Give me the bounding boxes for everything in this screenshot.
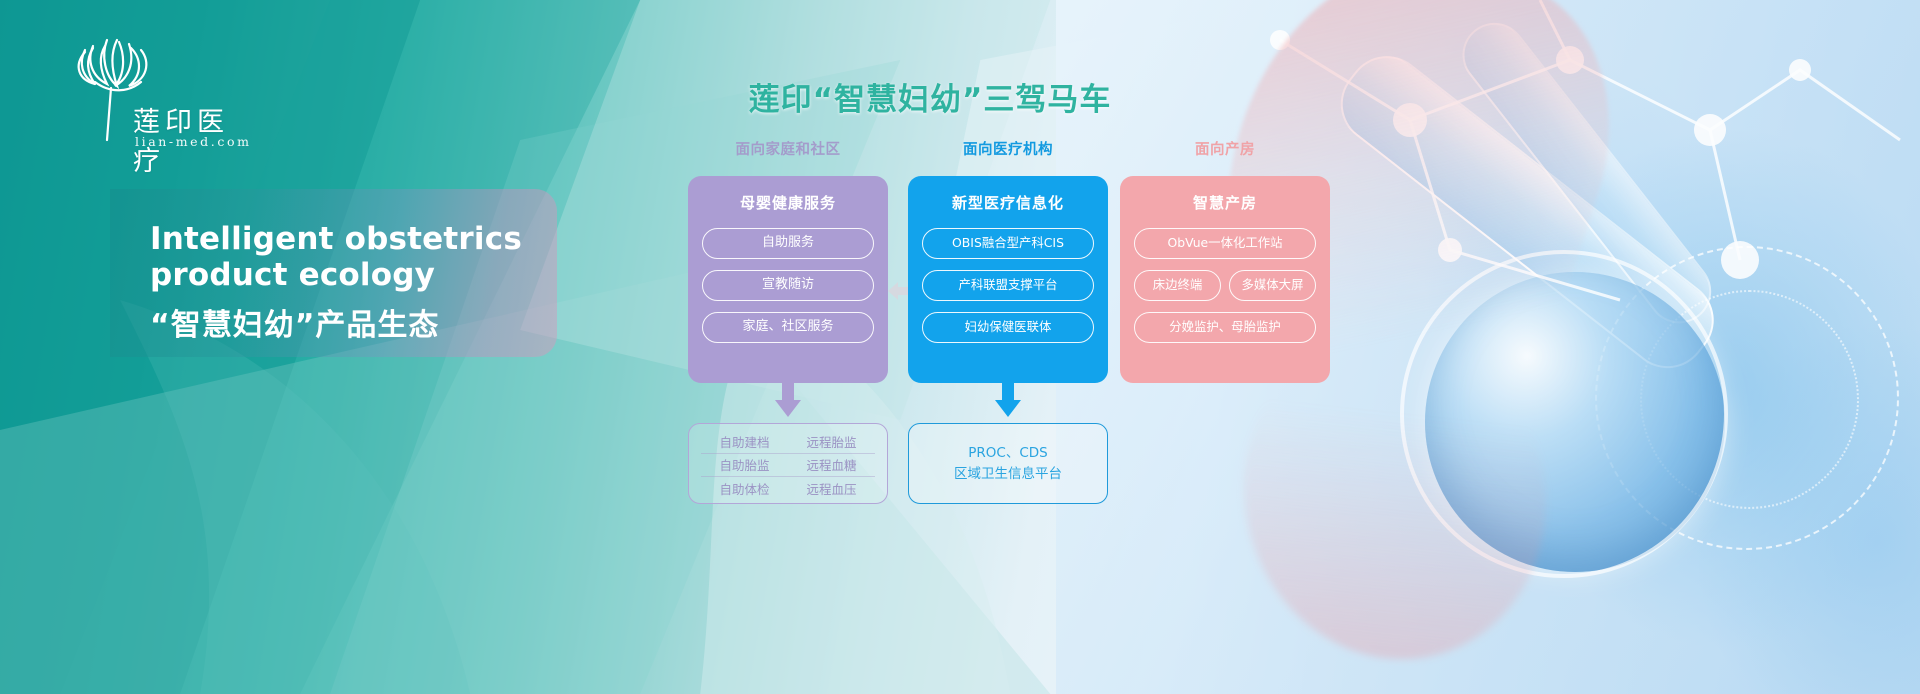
bottom-row: 自助建档 远程胎监 (701, 430, 875, 454)
brand-logo[interactable]: 莲印医疗 lian-med.com (55, 22, 255, 142)
card-title-blue: 新型医疗信息化 (922, 192, 1094, 213)
pill-delivery-fetal-monitoring[interactable]: 分娩监护、母胎监护 (1134, 312, 1316, 343)
bottom-row: 自助胎监 远程血糖 (701, 454, 875, 478)
card-maternal-health-services[interactable]: 母婴健康服务 自助服务 宣教随访 家庭、社区服务 (688, 176, 888, 383)
slide-canvas: 莲印医疗 lian-med.com Intelligent obstetrics… (0, 0, 1920, 694)
column-delivery-room: 面向产房 智慧产房 ObVue一体化工作站 床边终端 多媒体大屏 分娩监护、母胎… (1120, 140, 1330, 383)
bottom-cell: 远程血压 (788, 479, 875, 498)
pill-obvue-workstation[interactable]: ObVue一体化工作站 (1134, 228, 1316, 259)
column-family-community: 面向家庭和社区 母婴健康服务 自助服务 宣教随访 家庭、社区服务 自助建档 远程… (688, 140, 888, 504)
bottom-cell: 自助胎监 (701, 455, 788, 474)
left-subtitle-chinese: “智慧妇幼”产品生态 (150, 300, 580, 344)
card-new-medical-informatization[interactable]: 新型医疗信息化 OBIS融合型产科CIS 产科联盟支撑平台 妇幼保健医联体 (908, 176, 1108, 383)
card-title-purple: 母婴健康服务 (702, 192, 874, 213)
pill-obstetric-alliance-platform[interactable]: 产科联盟支撑平台 (922, 270, 1094, 301)
bottom-box-regional-platform[interactable]: PROC、CDS 区域卫生信息平台 (908, 423, 1108, 504)
arrow-down-icon-purple (775, 383, 801, 417)
bottom-cell: 自助建档 (701, 432, 788, 451)
pill-self-service[interactable]: 自助服务 (702, 228, 874, 259)
pill-multimedia-screen[interactable]: 多媒体大屏 (1229, 270, 1316, 301)
card-title-pink: 智慧产房 (1134, 192, 1316, 213)
bottom-cell: 自助体检 (701, 479, 788, 498)
bottom-row: 自助体检 远程血压 (701, 477, 875, 500)
pill-education-followup[interactable]: 宣教随访 (702, 270, 874, 301)
pill-row-bedside: 床边终端 多媒体大屏 (1134, 270, 1316, 312)
left-title-line2: product ecology (150, 257, 580, 293)
column-header-medical: 面向医疗机构 (908, 140, 1108, 160)
card-smart-delivery-room[interactable]: 智慧产房 ObVue一体化工作站 床边终端 多媒体大屏 分娩监护、母胎监护 (1120, 176, 1330, 383)
bottom-cell: 远程胎监 (788, 432, 875, 451)
arrow-down-icon-blue (995, 383, 1021, 417)
bottom-cell: 远程血糖 (788, 455, 875, 474)
column-header-family: 面向家庭和社区 (688, 140, 888, 160)
pill-maternal-child-medical-union[interactable]: 妇幼保健医联体 (922, 312, 1094, 343)
bottom-box-family-services[interactable]: 自助建档 远程胎监 自助胎监 远程血糖 自助体检 远程血压 (688, 423, 888, 504)
left-title-english: Intelligent obstetrics product ecology (150, 221, 580, 293)
brand-url: lian-med.com (135, 134, 252, 149)
page-title: 莲印“智慧妇幼”三驾马车 (700, 74, 1160, 119)
bottom-line2: 区域卫生信息平台 (954, 464, 1062, 485)
bottom-line1: PROC、CDS (968, 443, 1047, 464)
left-title-line1: Intelligent obstetrics (150, 221, 580, 257)
pill-bedside-terminal[interactable]: 床边终端 (1134, 270, 1221, 301)
pill-obis-cis[interactable]: OBIS融合型产科CIS (922, 228, 1094, 259)
column-header-delivery-room: 面向产房 (1120, 140, 1330, 160)
pill-family-community-service[interactable]: 家庭、社区服务 (702, 312, 874, 343)
column-medical-institutions: 面向医疗机构 新型医疗信息化 OBIS融合型产科CIS 产科联盟支撑平台 妇幼保… (908, 140, 1108, 504)
